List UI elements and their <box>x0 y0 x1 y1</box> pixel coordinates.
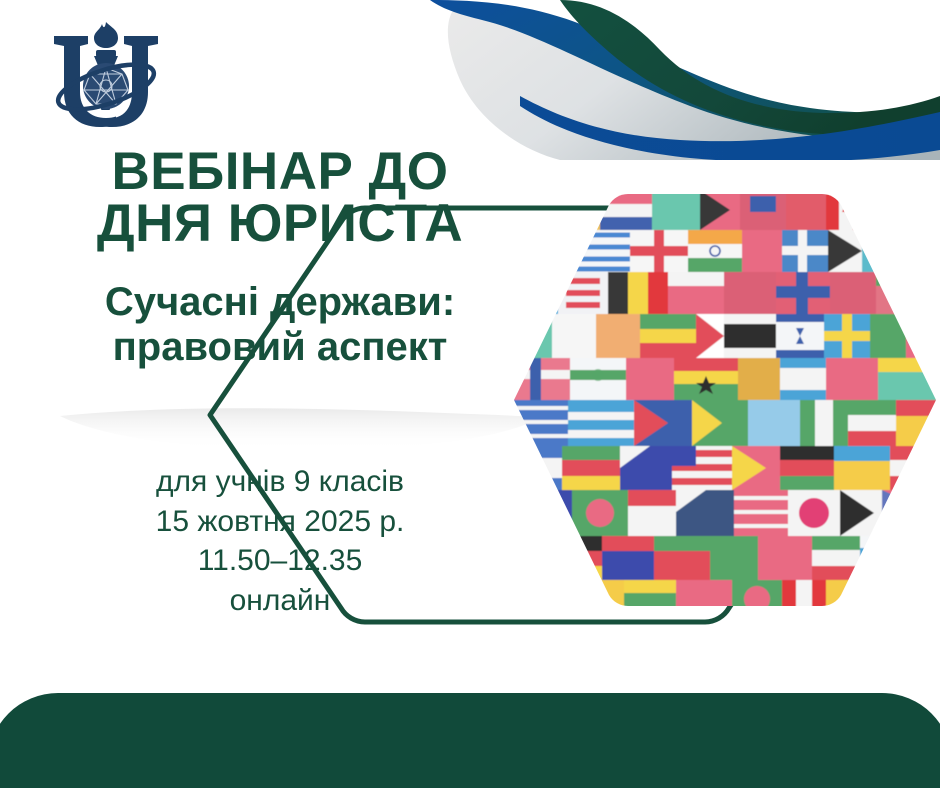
detail-format: онлайн <box>0 581 560 621</box>
bottom-green-band <box>0 693 940 788</box>
university-torch-globe-logo <box>40 14 172 140</box>
detail-date: 15 жовтня 2025 р. <box>0 502 560 542</box>
page-subtitle: Сучасні держави: правовий аспект <box>0 280 560 370</box>
ribbon-wave-grey <box>448 11 940 160</box>
ribbon-wave-blue-upper <box>430 0 940 139</box>
detail-audience: для учнів 9 класів <box>0 462 560 502</box>
subtitle-line-2: правовий аспект <box>0 325 560 370</box>
detail-time: 11.50–12.35 <box>0 541 560 581</box>
poster-text-block: ВЕБІНАР ДО ДНЯ ЮРИСТА Сучасні держави: п… <box>0 146 560 369</box>
poster-canvas: ВЕБІНАР ДО ДНЯ ЮРИСТА Сучасні держави: п… <box>0 0 940 788</box>
ribbon-wave-blue-lower <box>520 96 940 160</box>
world-flags-mosaic <box>510 190 940 618</box>
headline-line-2: ДНЯ ЮРИСТА <box>0 198 560 250</box>
event-details: для учнів 9 класів 15 жовтня 2025 р. 11.… <box>0 462 560 620</box>
subtitle-line-1: Сучасні держави: <box>0 280 560 325</box>
page-title: ВЕБІНАР ДО ДНЯ ЮРИСТА <box>0 146 560 250</box>
ribbon-wave-green <box>560 0 940 135</box>
headline-line-1: ВЕБІНАР ДО <box>0 146 560 198</box>
